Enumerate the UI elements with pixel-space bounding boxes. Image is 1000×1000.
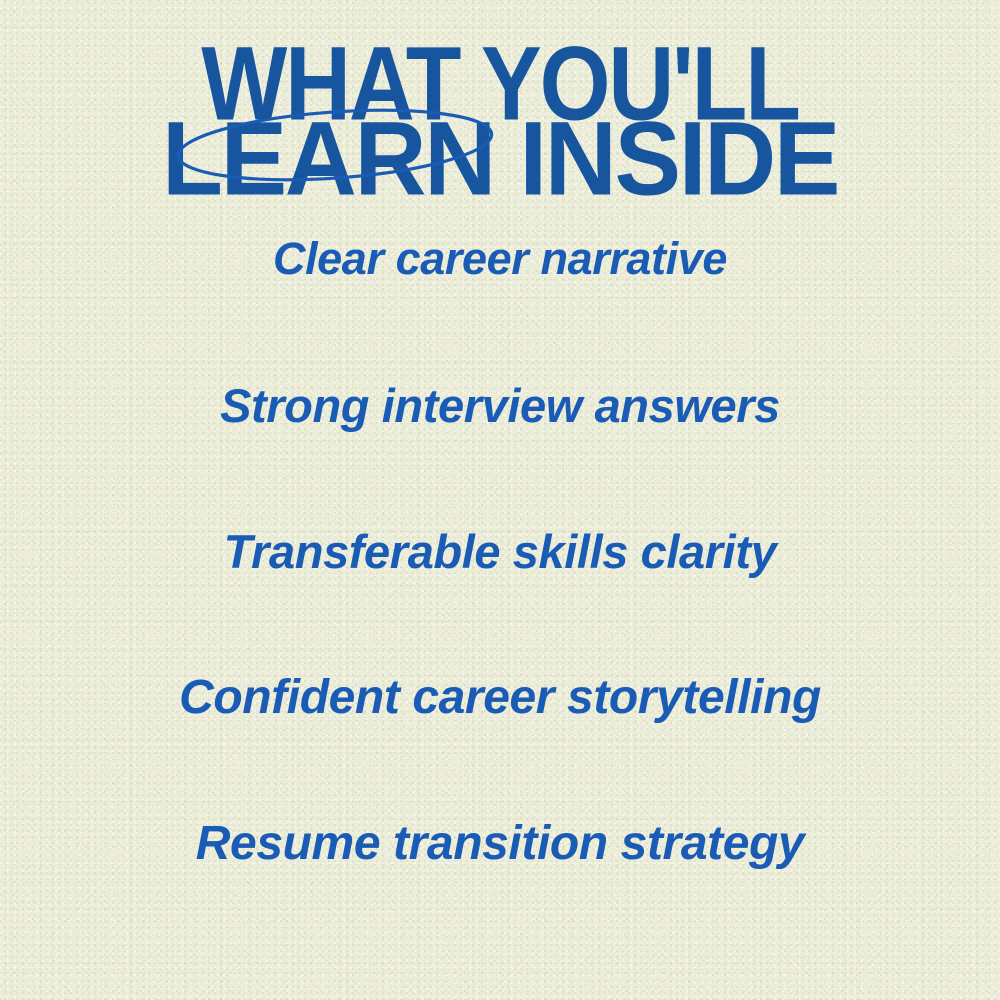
- list-item: Confident career storytelling: [0, 674, 1000, 820]
- list-item: Strong interview answers: [0, 382, 1000, 528]
- list-item: Clear career narrative: [0, 236, 1000, 382]
- heading-line-2: LEARN INSIDE: [0, 119, 1000, 201]
- poster-canvas: WHAT YOU'LL LEARN INSIDE Clear career na…: [0, 0, 1000, 1000]
- page-title: WHAT YOU'LL LEARN INSIDE: [0, 44, 1000, 186]
- benefits-list: Clear career narrative Strong interview …: [0, 236, 1000, 966]
- list-item: Transferable skills clarity: [0, 528, 1000, 674]
- list-item: Resume transition strategy: [0, 820, 1000, 966]
